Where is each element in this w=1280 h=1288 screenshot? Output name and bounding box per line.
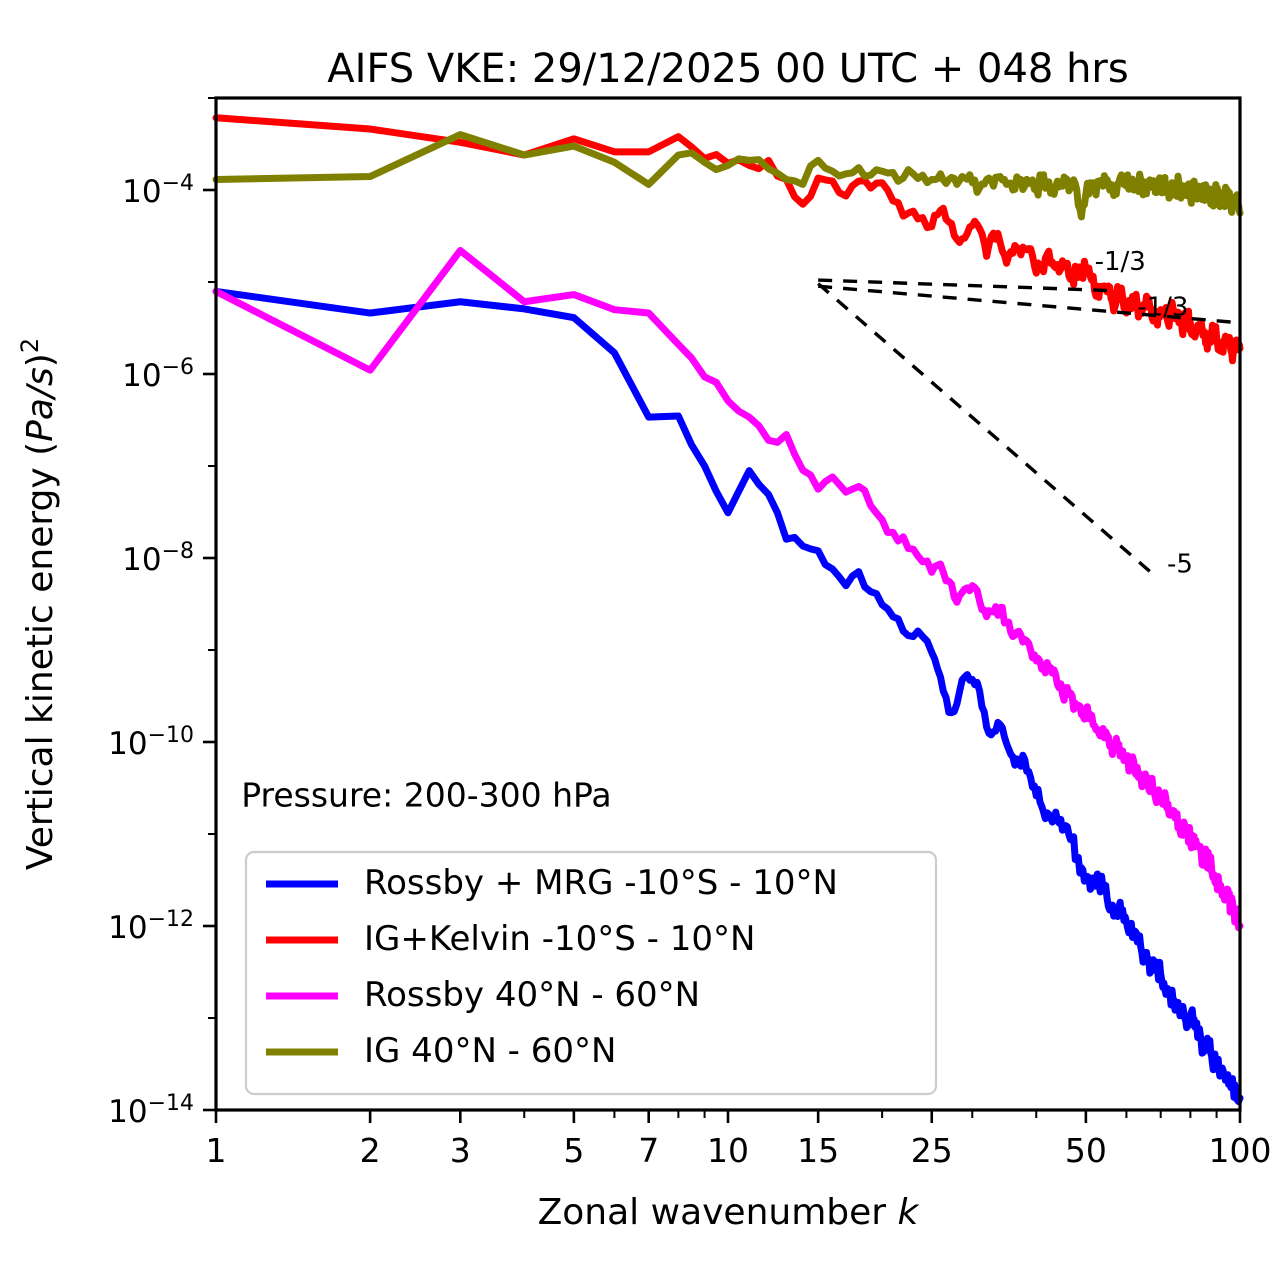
y-tick-base: 10 — [108, 726, 147, 762]
slope-label-minus5: -5 — [1167, 549, 1193, 579]
x-tick-label-15: 15 — [797, 1131, 839, 1170]
x-tick-label-100: 100 — [1209, 1131, 1272, 1170]
x-tick-label-2: 2 — [360, 1131, 381, 1170]
y-tick-exponent: −10 — [148, 723, 194, 748]
y-tick-exponent: −6 — [162, 355, 194, 380]
x-tick-label-10: 10 — [707, 1131, 749, 1170]
page-title: AIFS VKE: 29/12/2025 00 UTC + 048 hrs — [327, 46, 1128, 92]
y-tick-exponent: −8 — [162, 539, 194, 564]
legend[interactable]: Rossby + MRG -10°S - 10°NIG+Kelvin -10°S… — [246, 852, 936, 1094]
y-tick-base: 10 — [122, 358, 161, 394]
slope-label-lower: -1/3 — [1137, 293, 1188, 323]
y-tick-exponent: −14 — [148, 1091, 194, 1116]
legend-label-0: Rossby + MRG -10°S - 10°N — [364, 863, 838, 903]
y-axis-label-italic: Pa/s — [20, 367, 61, 442]
x-tick-label-3: 3 — [450, 1131, 471, 1170]
x-tick-label-25: 25 — [911, 1131, 953, 1170]
y-axis-label: Vertical kinetic energy (Pa/s)2 — [16, 338, 61, 870]
x-tick-label-1: 1 — [206, 1131, 227, 1170]
x-axis-label-italic: k — [898, 1192, 921, 1233]
slope-label-upper: -1/3 — [1095, 247, 1146, 277]
vke-spectrum-figure: AIFS VKE: 29/12/2025 00 UTC + 048 hrs 12… — [0, 0, 1280, 1288]
x-tick-label-7: 7 — [638, 1131, 659, 1170]
x-axis-label: Zonal wavenumber k — [538, 1192, 921, 1233]
y-tick-base: 10 — [108, 910, 147, 946]
y-tick-base: 10 — [108, 1094, 147, 1130]
y-tick-base: 10 — [122, 174, 161, 210]
legend-label-2: Rossby 40°N - 60°N — [364, 975, 700, 1015]
x-tick-label-5: 5 — [563, 1131, 584, 1170]
y-axis-label-superscript: 2 — [16, 338, 44, 353]
y-tick-exponent: −4 — [162, 171, 194, 196]
y-axis-label-suffix: ) — [20, 353, 61, 367]
y-tick-exponent: −12 — [148, 907, 194, 932]
y-tick-base: 10 — [122, 542, 161, 578]
y-axis-label-prefix: Vertical kinetic energy ( — [20, 442, 61, 870]
legend-label-1: IG+Kelvin -10°S - 10°N — [364, 919, 755, 959]
legend-label-3: IG 40°N - 60°N — [364, 1031, 616, 1071]
x-tick-label-50: 50 — [1065, 1131, 1107, 1170]
pressure-annotation: Pressure: 200-300 hPa — [241, 775, 611, 814]
x-axis-label-prefix: Zonal wavenumber — [538, 1192, 898, 1233]
